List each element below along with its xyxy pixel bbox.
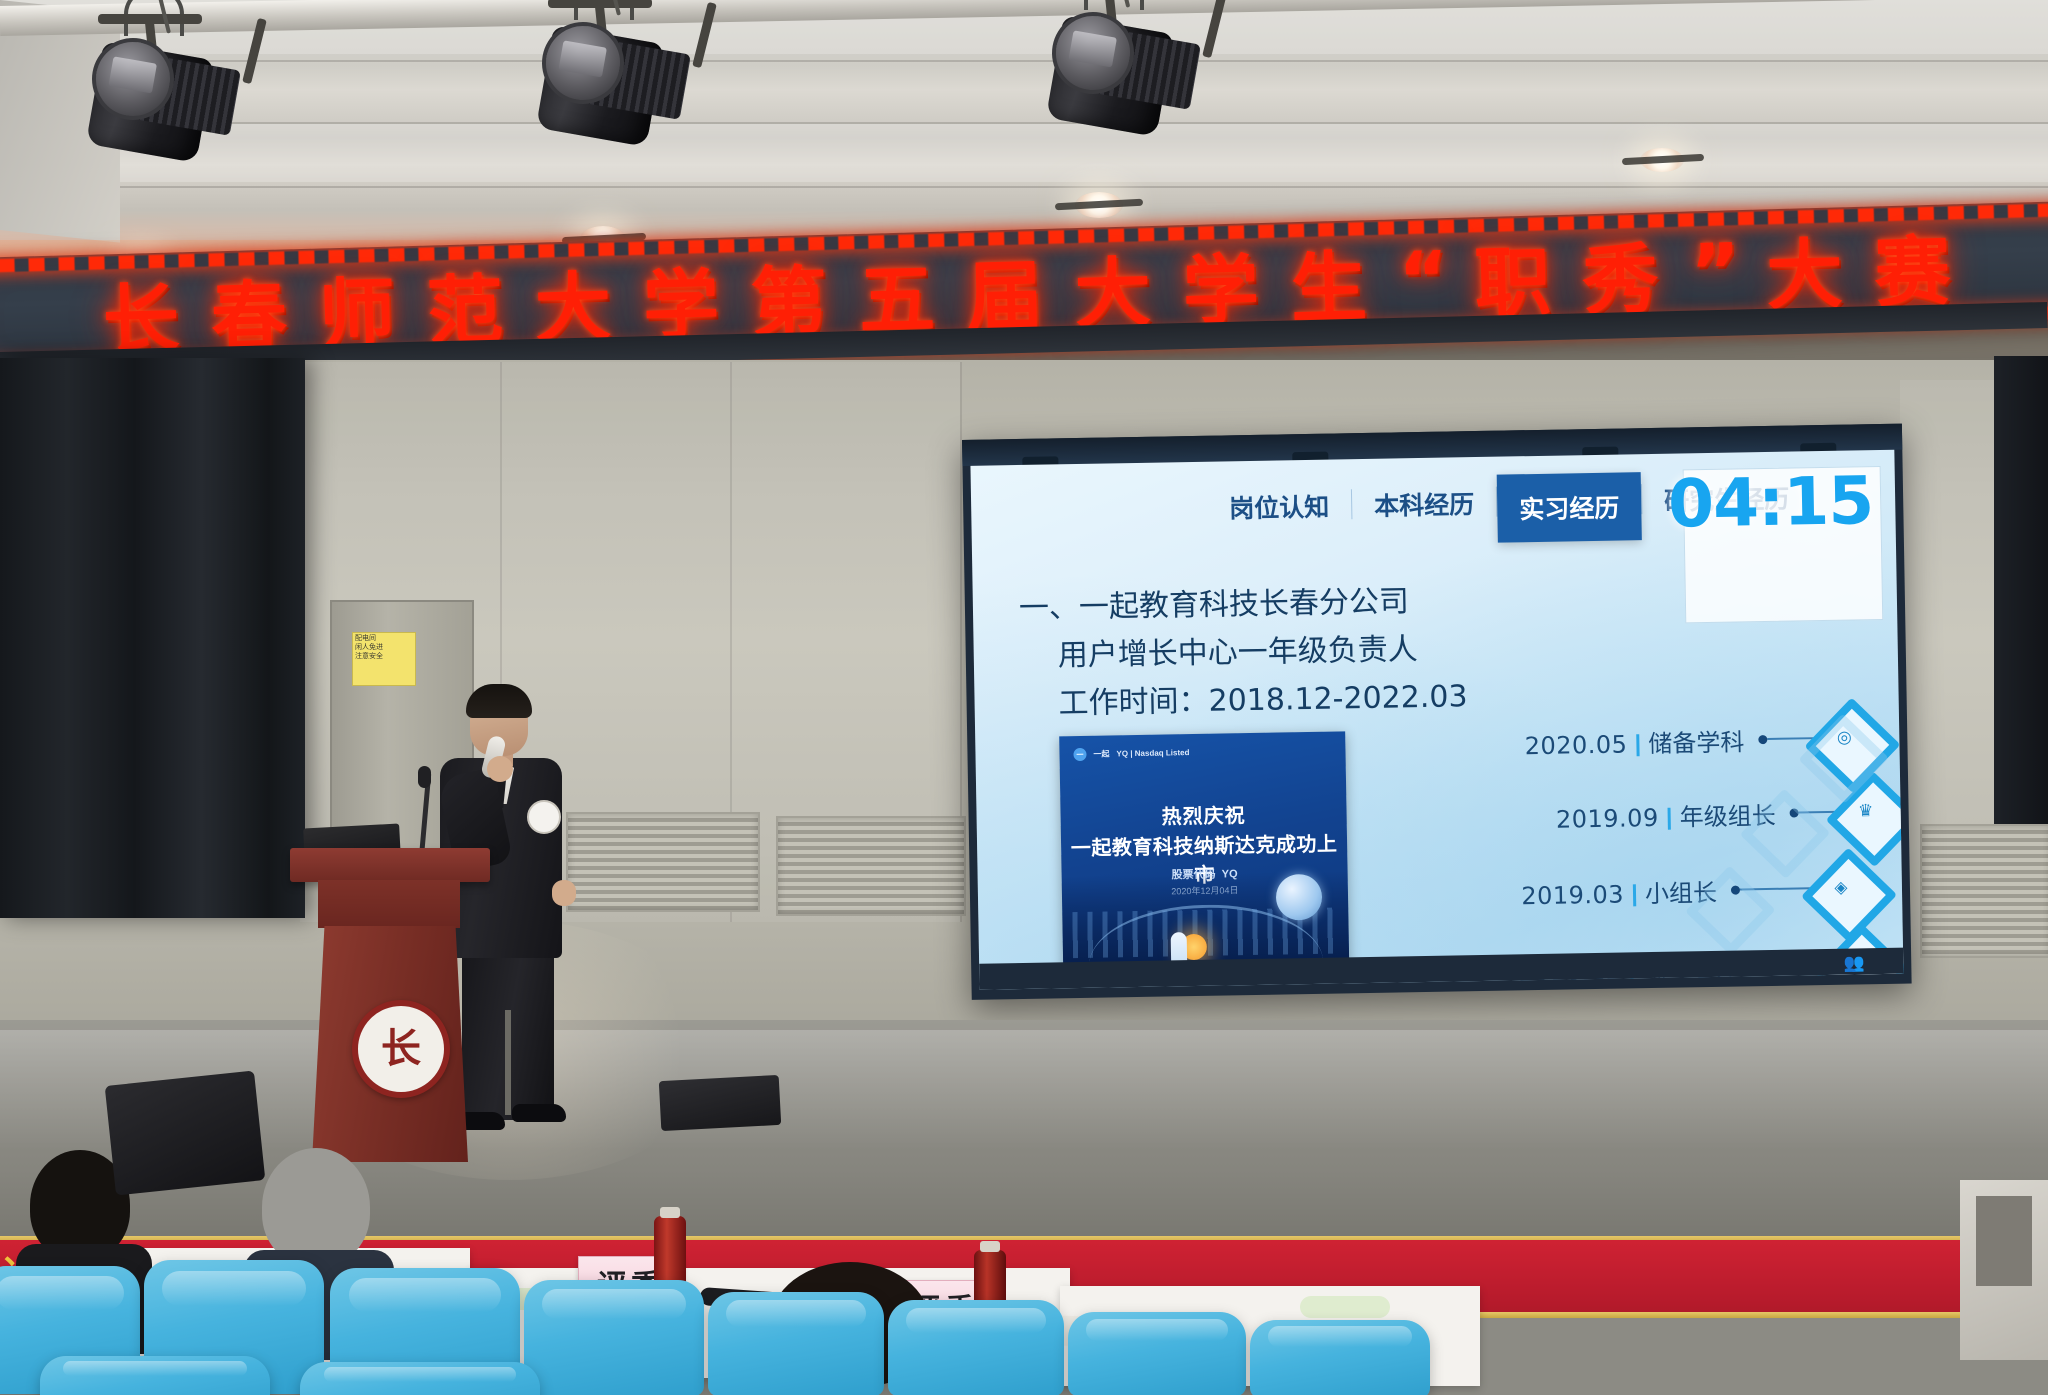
- timeline-divider: [1668, 807, 1671, 829]
- poster-brand: 一起: [1093, 748, 1109, 759]
- tab-1[interactable]: 岗位认知: [1207, 477, 1352, 536]
- side-equipment-panel: [1976, 1196, 2032, 1286]
- stage-curtain-right: [1994, 356, 2048, 876]
- poster-brand-sub: YQ | Nasdaq Listed: [1116, 748, 1189, 758]
- timeline-label: 2019.03小组长: [1521, 872, 1717, 910]
- career-timeline: 2020.05储备学科◎2019.09年级组长♛2019.03小组长◈2018.…: [1413, 700, 1887, 958]
- door-sign-line-2: 闲人免进: [355, 644, 413, 653]
- fruit-plate: [1300, 1296, 1390, 1318]
- stage-floor-monitor: [659, 1075, 781, 1131]
- diamond-icon: ◈: [1829, 876, 1853, 900]
- door-sign-line-1: 配电间: [355, 635, 413, 644]
- stage-monitor-speaker: [105, 1070, 266, 1195]
- presentation-slide: 岗位认知本科经历实习经历研究生经历 04:15 一、一起教育科技长春分公司 用户…: [970, 450, 1903, 990]
- timeline-date: 2020.05: [1524, 730, 1627, 760]
- countdown-timer: 04:15: [1667, 462, 1873, 543]
- speaker-leg-gap: [505, 1010, 511, 1115]
- stage-floor-sheen: [0, 1030, 2048, 1150]
- emblem-character: 长: [381, 1029, 421, 1069]
- timeline-label: 2019.09年级组长: [1556, 795, 1776, 834]
- ceiling-slat: [0, 124, 2048, 182]
- speaker-shoe-right: [512, 1104, 566, 1122]
- ceiling-seam: [0, 186, 2048, 188]
- timeline-divider: [1633, 884, 1636, 906]
- slide-heading-line-1: 一、一起教育科技长春分公司: [1019, 577, 1467, 633]
- audience-seat: [300, 1362, 540, 1395]
- timeline-date: 2019.09: [1556, 803, 1659, 833]
- audience-seat: [524, 1280, 704, 1395]
- audience-seat: [708, 1292, 884, 1395]
- ceiling-seam: [0, 60, 2048, 62]
- bottle-cap: [660, 1207, 680, 1218]
- wall-vent: [1920, 824, 2048, 958]
- poster-logo-row: 一 一起 YQ | Nasdaq Listed: [1073, 746, 1189, 761]
- tab-2[interactable]: 本科经历: [1352, 475, 1497, 534]
- speaker-number-badge: [527, 800, 561, 834]
- podium-neck: [318, 880, 460, 928]
- ipo-celebration-poster: 一 一起 YQ | Nasdaq Listed 热烈庆祝 一起教育科技纳斯达克成…: [1059, 731, 1349, 972]
- timeline-label: 2020.05储备学科: [1524, 722, 1744, 761]
- audience-seat: [1068, 1312, 1246, 1395]
- speaker-hand-right: [552, 880, 576, 906]
- auditorium-scene: 长春师范大学第五届大学生“职秀”大赛 配电间 闲人免进 注意安全 岗位认知本科经…: [0, 0, 2048, 1395]
- crown-icon: ♛: [1853, 799, 1877, 823]
- poster-headline-1: 热烈庆祝: [1060, 797, 1346, 831]
- podium-mic-head-icon: [418, 766, 431, 788]
- timeline-dot: [1758, 734, 1767, 743]
- tab-3[interactable]: 实习经历: [1497, 472, 1642, 543]
- stage-curtain-left: [0, 358, 305, 918]
- timeline-diamond-icon: ◈: [1803, 850, 1878, 925]
- projection-screen: 岗位认知本科经历实习经历研究生经历 04:15 一、一起教育科技长春分公司 用户…: [962, 424, 1912, 1000]
- door-sign-line-3: 注意安全: [355, 653, 413, 662]
- slide-heading: 一、一起教育科技长春分公司 用户增长中心一年级负责人 工作时间：2018.12-…: [1019, 577, 1468, 729]
- university-emblem-icon: 长: [352, 1000, 450, 1098]
- door-warning-sign: 配电间 闲人免进 注意安全: [352, 632, 416, 686]
- speaker-hand-holding-mic: [487, 756, 513, 782]
- wall-vent: [776, 816, 966, 916]
- audience-seat: [888, 1300, 1064, 1395]
- timeline-divider: [1636, 734, 1639, 756]
- people-icon: 👥: [1842, 951, 1866, 975]
- audience-head: [262, 1148, 370, 1266]
- banner-char: “: [1397, 234, 1449, 324]
- wall-vent: [566, 812, 760, 912]
- target-icon: ◎: [1832, 725, 1856, 749]
- banner-char: ”: [1689, 226, 1741, 316]
- timeline-role: 储备学科: [1648, 728, 1744, 758]
- podium-top: [290, 848, 490, 882]
- audience-seat: [40, 1356, 270, 1395]
- audience-seat: [1250, 1320, 1430, 1395]
- company-logo-icon: 一: [1073, 748, 1086, 761]
- bottle-cap: [980, 1241, 1000, 1252]
- timeline-date: 2019.03: [1521, 880, 1624, 910]
- slide-heading-line-3: 工作时间：2018.12-2022.03: [1058, 673, 1468, 728]
- slide-heading-line-2: 用户增长中心一年级负责人: [1057, 625, 1467, 680]
